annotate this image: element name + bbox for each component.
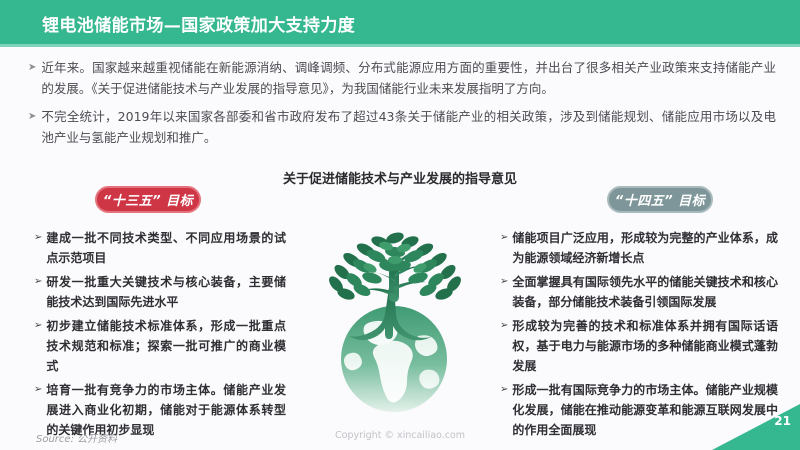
arrow-bullet-icon: ➢	[500, 380, 508, 400]
header-underline	[0, 44, 800, 47]
arrow-bullet-icon: ➢	[34, 228, 42, 248]
page-title: 锂电池储能市场—国家政策加大支持力度	[42, 11, 355, 36]
page-number: 21	[774, 414, 791, 428]
arrow-bullet-icon: ➢	[34, 272, 42, 292]
arrow-bullet-icon: ➢	[500, 316, 508, 336]
list-item: ➢ 全面掌握具有国际领先水平的储能关键技术和核心装备，部分储能技术装备引领国际发…	[500, 272, 778, 312]
intro-bullet-item: ➤ 近年来。国家越来越重视储能在新能源消纳、调峰调频、分布式能源应用方面的重要性…	[28, 57, 776, 99]
arrow-bullet-icon: ➢	[34, 316, 42, 336]
arrow-bullet-icon: ➢	[500, 228, 508, 248]
copyright-watermark: Copyright © xincailiao.com	[0, 430, 800, 441]
arrow-bullet-icon: ➤	[28, 106, 36, 127]
intro-bullet-list: ➤ 近年来。国家越来越重视储能在新能源消纳、调峰调频、分布式能源应用方面的重要性…	[28, 57, 776, 155]
slide-canvas: 锂电池储能市场—国家政策加大支持力度 ➤ 近年来。国家越来越重视储能在新能源消纳…	[0, 0, 800, 450]
tree-on-globe-illustration	[302, 222, 498, 422]
left-goal-list: ➢ 建成一批不同技术类型、不同应用场景的试点示范项目 ➢ 研发一批重大关键技术与…	[34, 228, 286, 444]
list-item-text: 初步建立储能技术标准体系，形成一批重点技术规范和标准；探索一批可推广的商业模式	[46, 316, 286, 376]
arrow-bullet-icon: ➢	[34, 380, 42, 400]
list-item-text: 储能项目广泛应用，形成较为完整的产业体系，成为能源领域经济新增长点	[512, 228, 778, 268]
section-heading: 关于促进储能技术与产业发展的指导意见	[0, 168, 800, 187]
badge-13th-five-year-plan: “十三五” 目标	[95, 186, 201, 213]
list-item: ➢ 形成较为完善的技术和标准体系并拥有国际话语权，基于电力与能源市场的多种储能商…	[500, 316, 778, 376]
arrow-bullet-icon: ➢	[500, 272, 508, 292]
intro-bullet-text: 近年来。国家越来越重视储能在新能源消纳、调峰调频、分布式能源应用方面的重要性，并…	[41, 57, 776, 99]
list-item: ➢ 建成一批不同技术类型、不同应用场景的试点示范项目	[34, 228, 286, 268]
arrow-bullet-icon: ➤	[28, 57, 36, 78]
list-item-text: 建成一批不同技术类型、不同应用场景的试点示范项目	[46, 228, 286, 268]
list-item-text: 研发一批重大关键技术与核心装备，主要储能技术达到国际先进水平	[46, 272, 286, 312]
list-item: ➢ 储能项目广泛应用，形成较为完整的产业体系，成为能源领域经济新增长点	[500, 228, 778, 268]
list-item-text: 形成较为完善的技术和标准体系并拥有国际话语权，基于电力与能源市场的多种储能商业模…	[512, 316, 778, 376]
intro-bullet-item: ➤ 不完全统计，2019年以来国家各部委和省市政府发布了超过43条关于储能产业的…	[28, 106, 776, 148]
intro-bullet-text: 不完全统计，2019年以来国家各部委和省市政府发布了超过43条关于储能产业的相关…	[41, 106, 776, 148]
badge-14th-five-year-plan: “十四五” 目标	[607, 186, 713, 213]
list-item: ➢ 初步建立储能技术标准体系，形成一批重点技术规范和标准；探索一批可推广的商业模…	[34, 316, 286, 376]
list-item-text: 全面掌握具有国际领先水平的储能关键技术和核心装备，部分储能技术装备引领国际发展	[512, 272, 778, 312]
list-item: ➢ 研发一批重大关键技术与核心装备，主要储能技术达到国际先进水平	[34, 272, 286, 312]
